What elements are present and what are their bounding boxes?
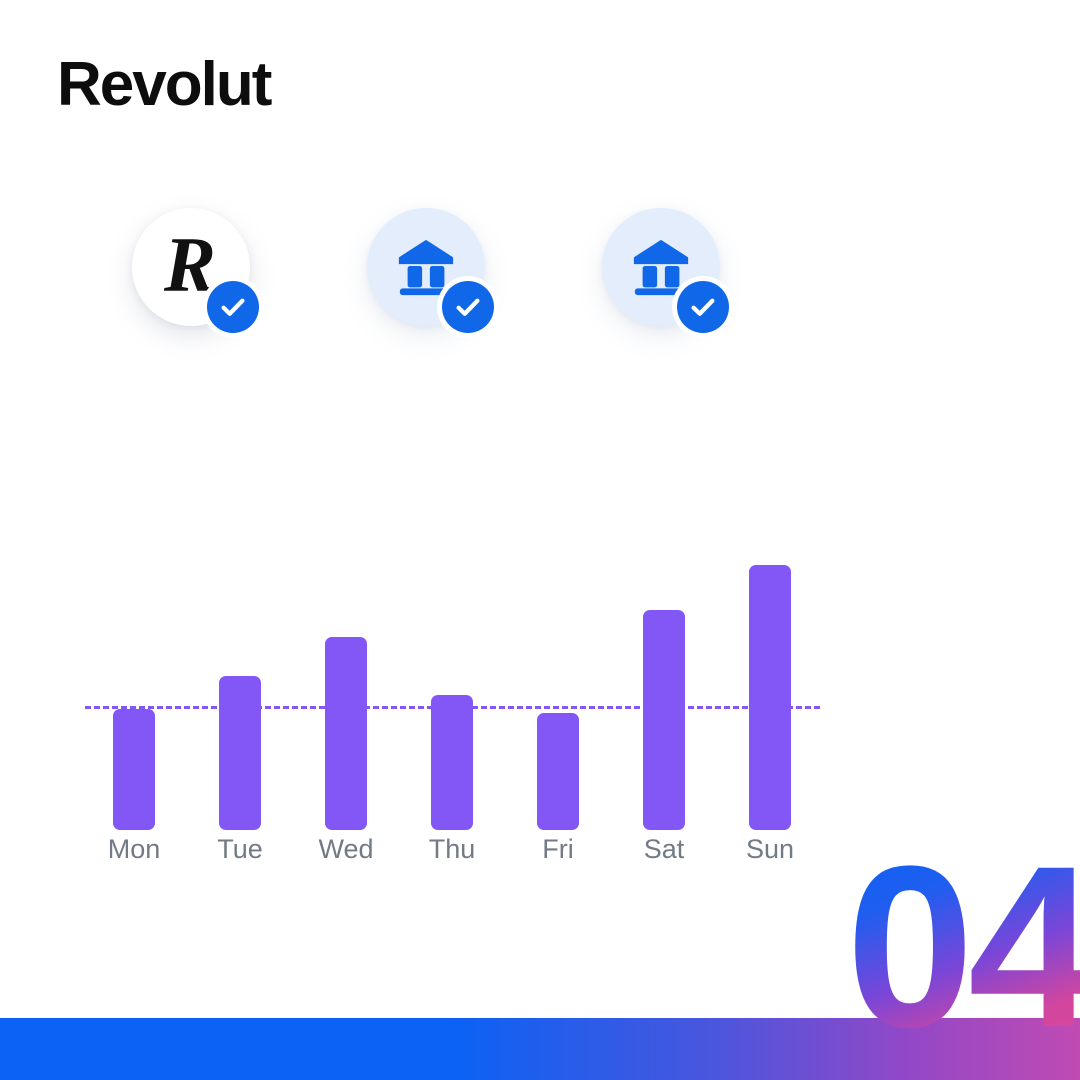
chart-bar[interactable]: [431, 695, 473, 830]
verified-badge: [437, 276, 499, 338]
day-label: Mon: [89, 836, 179, 863]
check-icon: [442, 281, 494, 333]
bar-slot: [108, 540, 160, 830]
slide-number: 04: [846, 832, 1080, 1062]
chart-bar[interactable]: [325, 637, 367, 830]
bar-slot: [426, 540, 478, 830]
chart-plot-area: [85, 540, 845, 830]
account-avatar-bank-2[interactable]: [602, 208, 720, 326]
bar-slot: [320, 540, 372, 830]
average-line: [85, 706, 820, 709]
chart-x-axis-labels: MonTueWedThuFriSatSun: [85, 836, 845, 876]
chart-bar[interactable]: [113, 709, 155, 830]
weekly-spending-chart: MonTueWedThuFriSatSun: [85, 540, 845, 890]
account-avatar-revolut[interactable]: R: [132, 208, 250, 326]
chart-bar[interactable]: [537, 713, 579, 830]
linked-accounts-row: R: [132, 208, 720, 326]
day-label: Tue: [195, 836, 285, 863]
chart-bar[interactable]: [219, 676, 261, 830]
check-icon: [677, 281, 729, 333]
revolut-wordmark: Revolut: [57, 54, 270, 116]
bar-slot: [532, 540, 584, 830]
check-icon: [207, 281, 259, 333]
day-label: Thu: [407, 836, 497, 863]
poster-canvas: Revolut R: [0, 0, 1080, 1080]
chart-bar[interactable]: [749, 565, 791, 830]
day-label: Wed: [301, 836, 391, 863]
bar-slot: [638, 540, 690, 830]
verified-badge: [202, 276, 264, 338]
chart-bar[interactable]: [643, 610, 685, 830]
verified-badge: [672, 276, 734, 338]
account-avatar-bank-1[interactable]: [367, 208, 485, 326]
bar-slot: [744, 540, 796, 830]
day-label: Sun: [725, 836, 815, 863]
bar-slot: [214, 540, 266, 830]
day-label: Sat: [619, 836, 709, 863]
day-label: Fri: [513, 836, 603, 863]
